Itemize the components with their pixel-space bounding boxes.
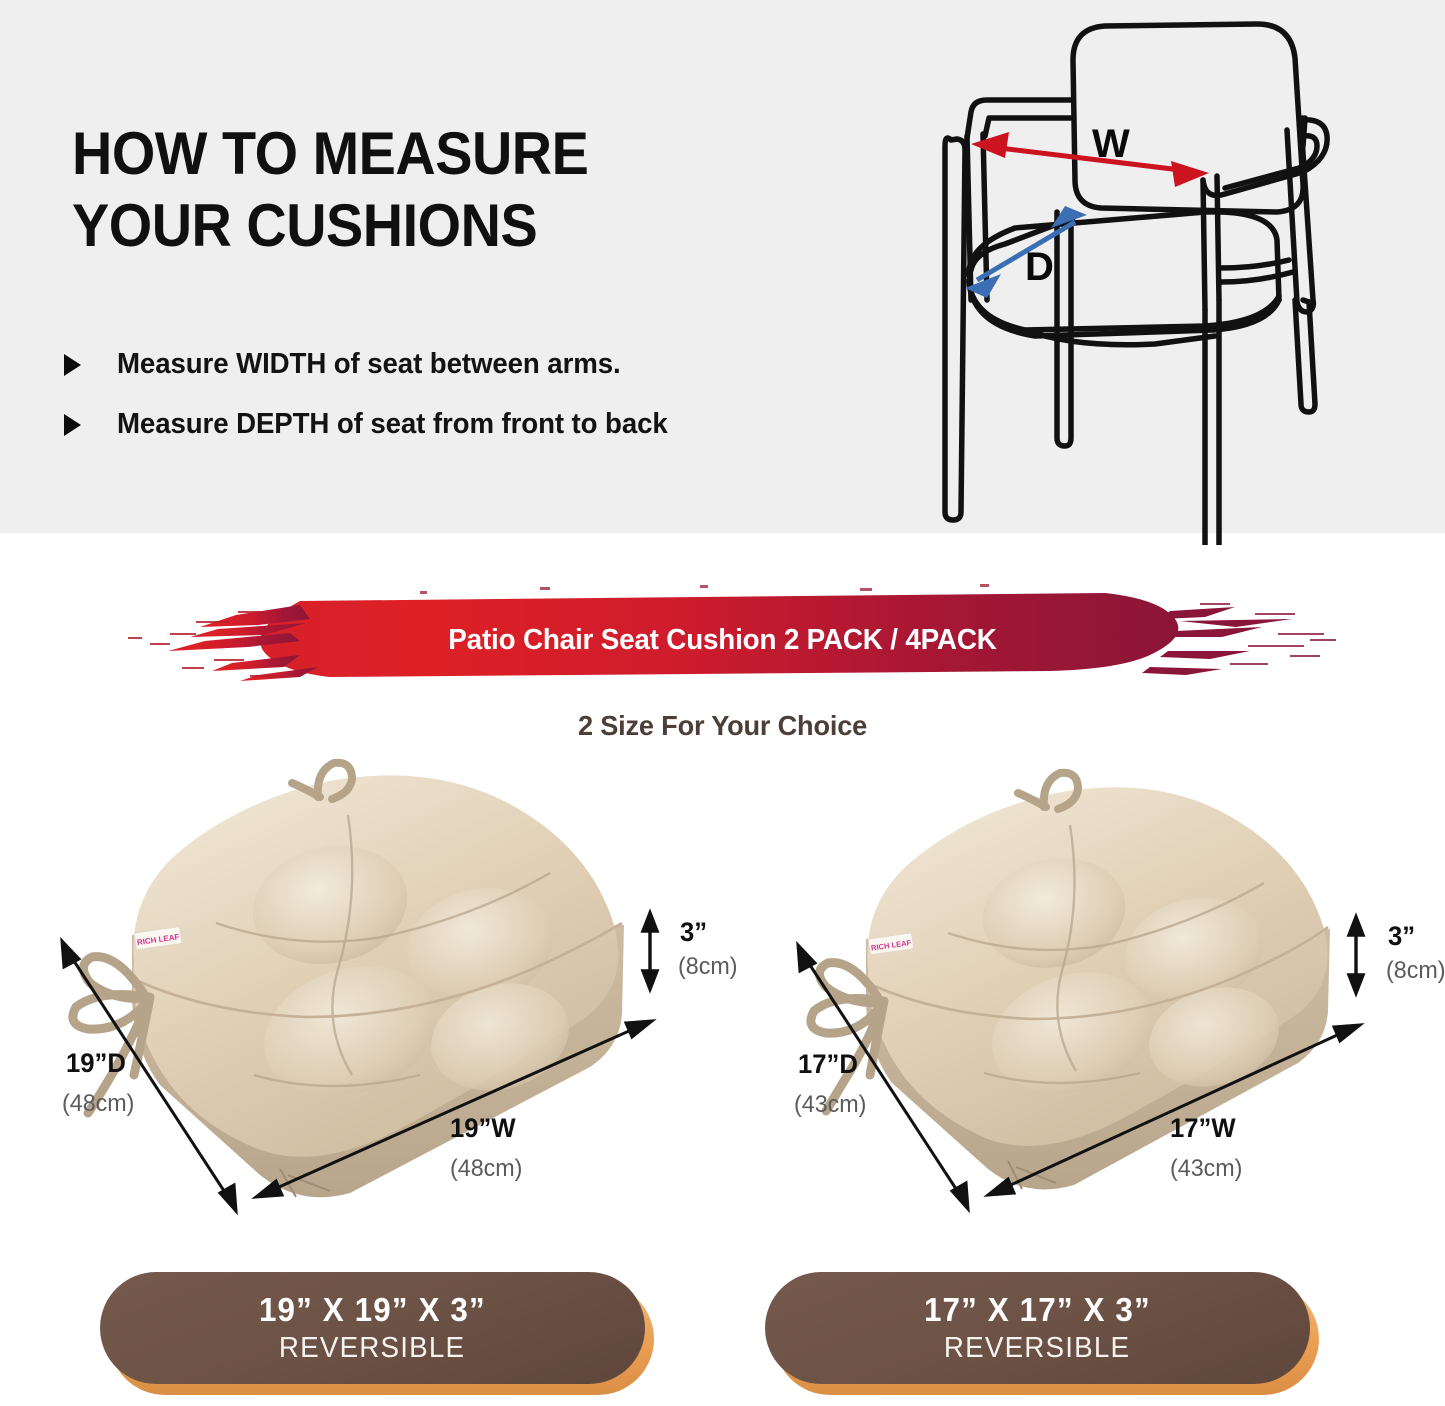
depth-label: 17”D	[798, 1049, 858, 1080]
height-dimension-arrow	[643, 913, 657, 989]
depth-sublabel: (43cm)	[794, 1091, 866, 1119]
badge-body: 19” X 19” X 3” REVERSIBLE	[100, 1272, 645, 1384]
width-label: 19”W	[450, 1113, 516, 1144]
badge-reversible: REVERSIBLE	[944, 1334, 1130, 1363]
height-sublabel: (8cm)	[678, 953, 737, 981]
width-label: 17”W	[1170, 1113, 1236, 1144]
badge-dimensions: 17” X 17” X 3”	[924, 1293, 1151, 1326]
page-title: HOW TO MEASURE YOUR CUSHIONS	[72, 118, 723, 262]
badge-dimensions: 19” X 19” X 3”	[259, 1293, 486, 1326]
banner-subtitle: 2 Size For Your Choice	[22, 710, 1424, 742]
height-label: 3”	[1388, 921, 1415, 952]
large-cushion-figure: RICH LEAF 19”D (48cm) 19”W (48cm) 3” (8c…	[30, 745, 770, 1245]
size-badge-small: 17” X 17” X 3” REVERSIBLE	[765, 1272, 1310, 1390]
height-label: 3”	[680, 917, 707, 948]
chair-depth-letter: D	[1025, 245, 1054, 290]
size-badge-large: 19” X 19” X 3” REVERSIBLE	[100, 1272, 645, 1390]
banner-title: Patio Chair Seat Cushion 2 PACK / 4PACK	[29, 624, 1416, 657]
list-item: Measure DEPTH of seat from front to back	[64, 408, 884, 441]
triangle-bullet-icon	[64, 354, 81, 376]
width-sublabel: (48cm)	[450, 1155, 522, 1183]
small-cushion-illustration: RICH LEAF	[770, 745, 1430, 1245]
triangle-bullet-icon	[64, 414, 81, 436]
width-arrow-icon	[971, 132, 1209, 187]
large-cushion-illustration: RICH LEAF	[30, 745, 770, 1245]
instruction-text: Measure WIDTH of seat between arms.	[117, 348, 621, 381]
chair-illustration	[905, 0, 1445, 545]
how-to-measure-section: HOW TO MEASURE YOUR CUSHIONS Measure WID…	[0, 0, 1445, 533]
height-sublabel: (8cm)	[1386, 957, 1445, 985]
instruction-text: Measure DEPTH of seat from front to back	[117, 408, 668, 441]
chair-width-letter: W	[1092, 122, 1130, 167]
small-cushion-figure: RICH LEAF 17”D (43cm) 17”W (43cm) 3” (8c…	[770, 745, 1430, 1245]
depth-sublabel: (48cm)	[62, 1090, 134, 1118]
badge-body: 17” X 17” X 3” REVERSIBLE	[765, 1272, 1310, 1384]
badge-reversible: REVERSIBLE	[279, 1334, 465, 1363]
height-dimension-arrow	[1349, 917, 1363, 993]
instruction-list: Measure WIDTH of seat between arms. Meas…	[64, 348, 884, 468]
list-item: Measure WIDTH of seat between arms.	[64, 348, 884, 381]
depth-label: 19”D	[66, 1048, 126, 1079]
width-sublabel: (43cm)	[1170, 1155, 1242, 1183]
